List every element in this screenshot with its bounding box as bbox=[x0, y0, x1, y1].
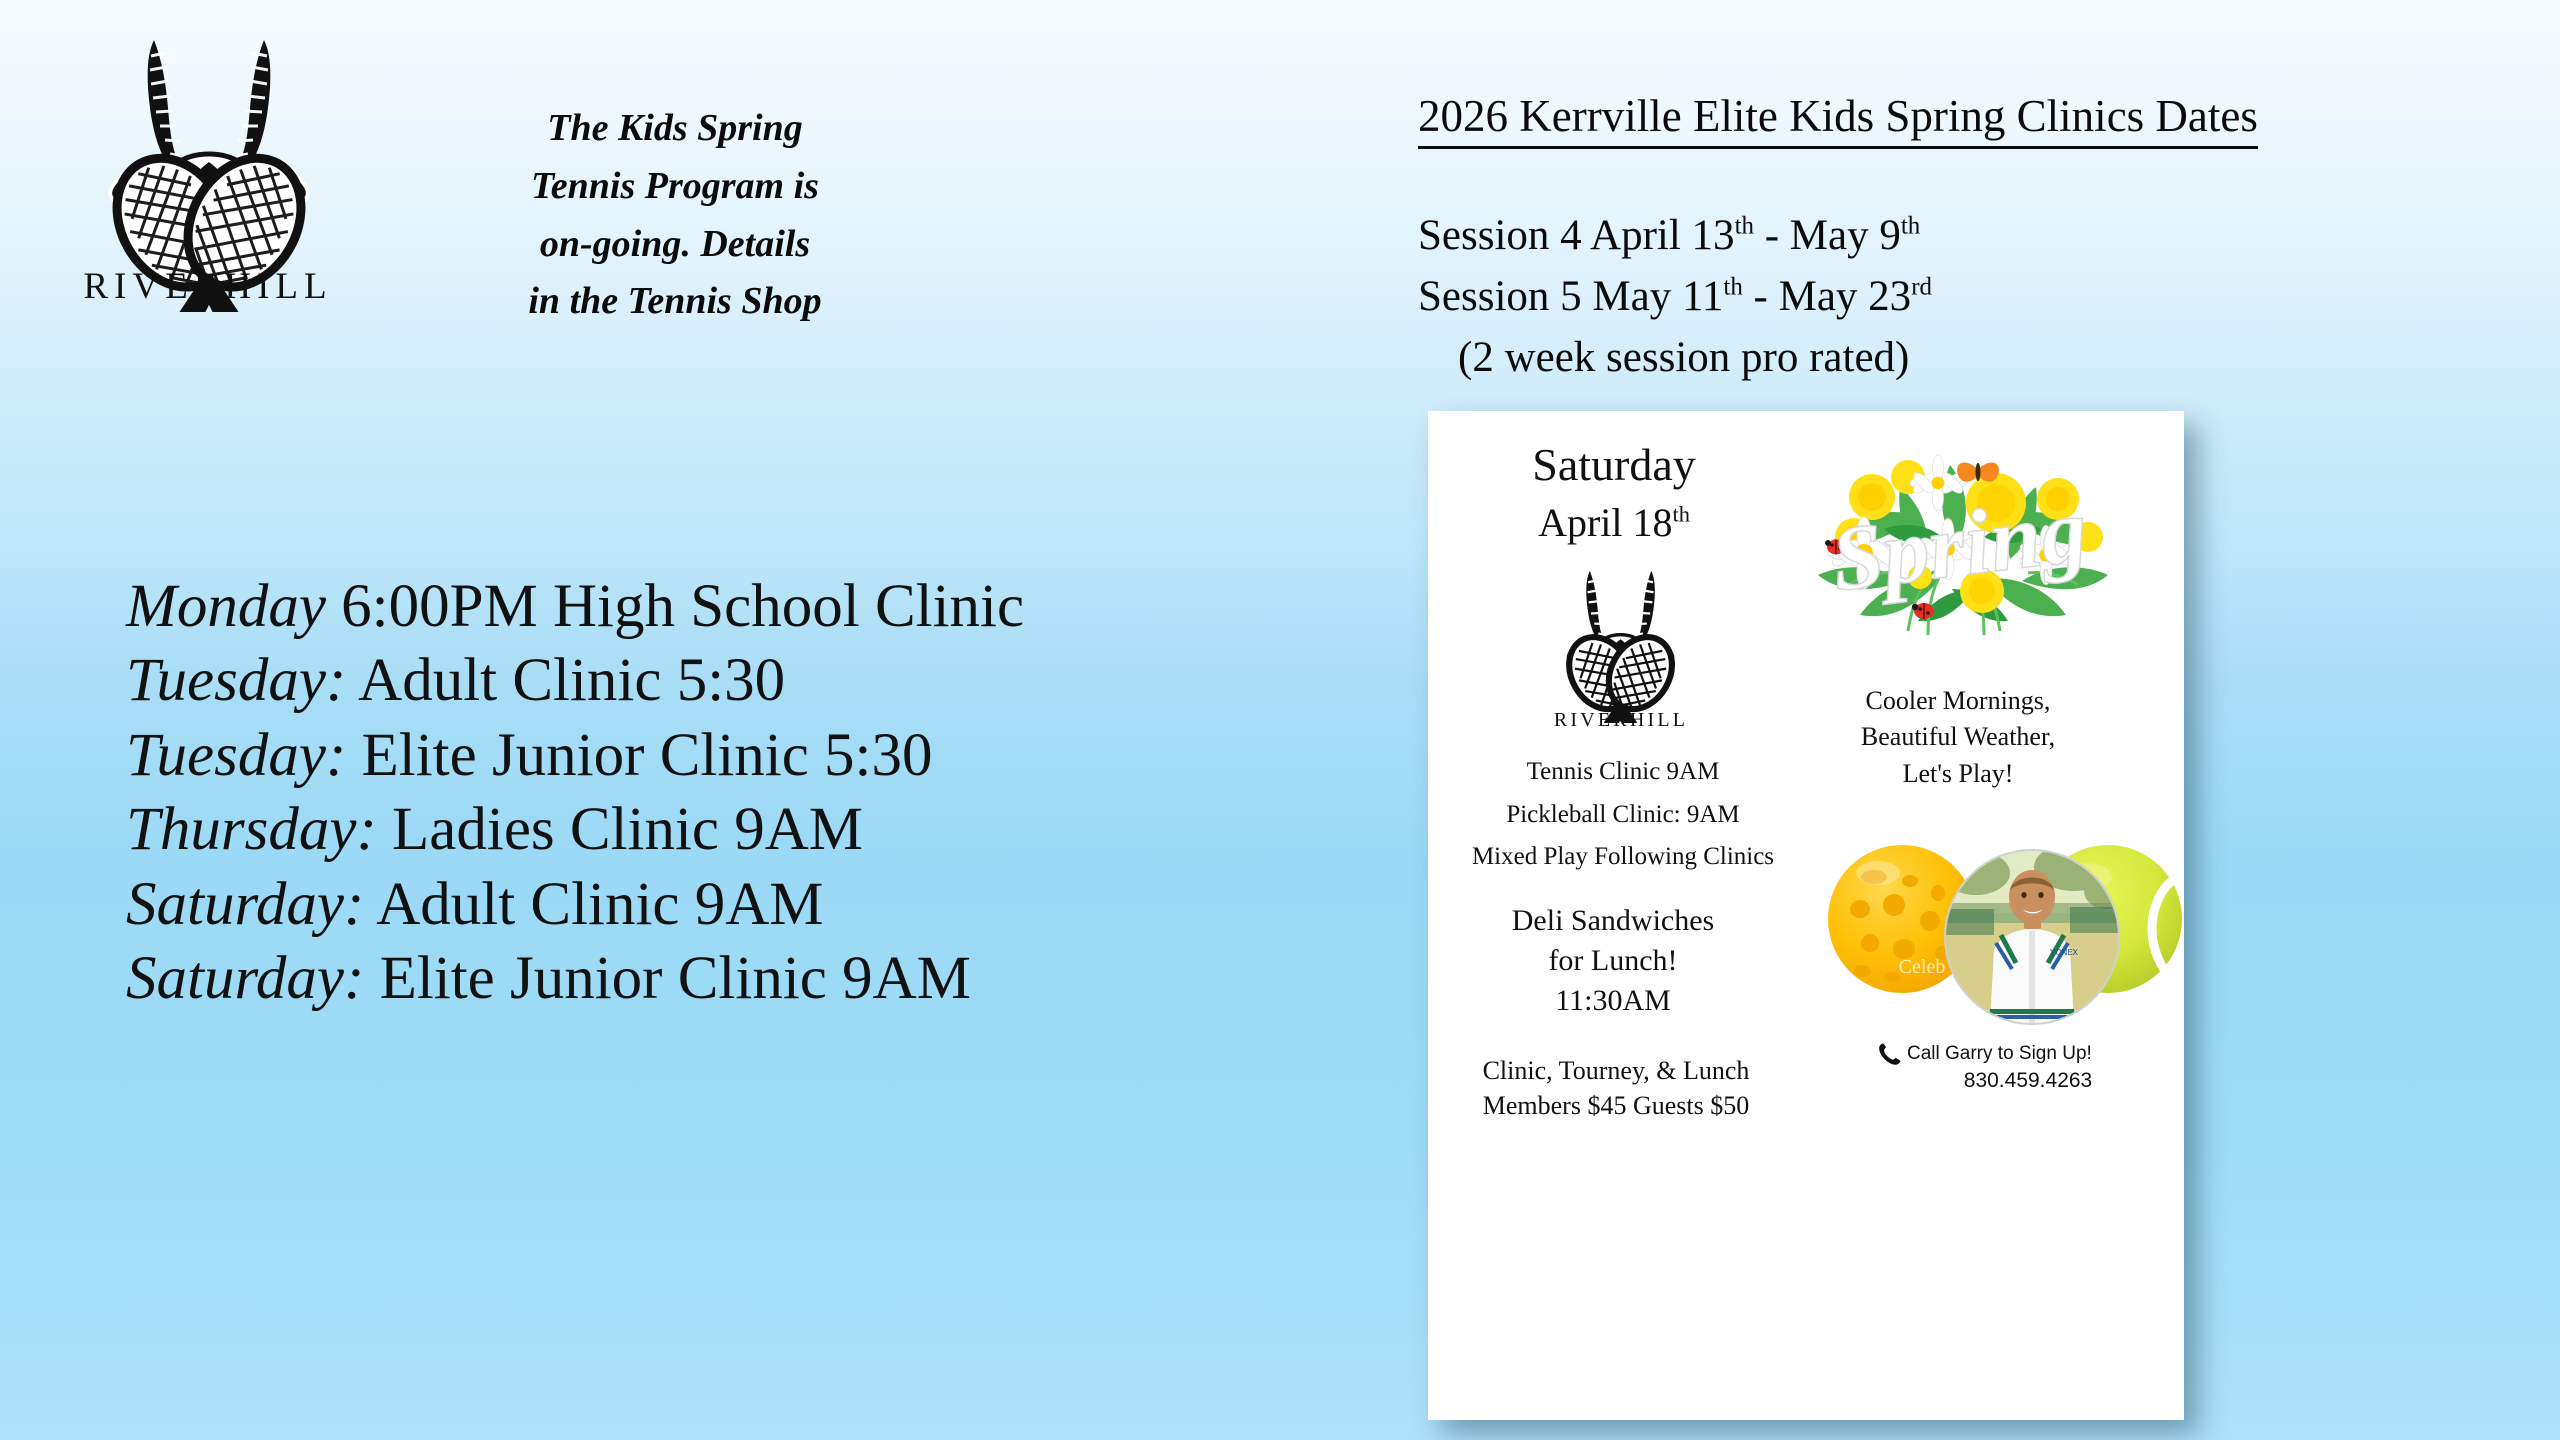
kids-heading-line: Tennis Program is bbox=[440, 158, 910, 216]
schedule-detail: Adult Clinic 5:30 bbox=[346, 647, 785, 714]
weekly-schedule-list: Monday 6:00PM High School Clinic Tuesday… bbox=[126, 570, 1376, 1016]
flyer-weather-text: Cooler Mornings, Beautiful Weather, Let'… bbox=[1808, 683, 2108, 792]
flyer-clinic-line: Mixed Play Following Clinics bbox=[1438, 836, 1808, 879]
coach-photo-avatar: YONEX bbox=[1944, 849, 2120, 1025]
flyer-date: April 18th bbox=[1464, 499, 1764, 546]
session-5-sup1: th bbox=[1723, 274, 1742, 301]
kids-heading-line: in the Tennis Shop bbox=[440, 273, 910, 331]
session-4-sup1: th bbox=[1735, 213, 1754, 240]
flyer-price-line: Clinic, Tourney, & Lunch bbox=[1436, 1053, 1796, 1088]
flyer-weather-line: Let's Play! bbox=[1808, 756, 2108, 792]
flyer-riverhill-logo-icon bbox=[1536, 561, 1704, 723]
flyer-date-text: April 18 bbox=[1538, 500, 1672, 545]
flyer-date-sup: th bbox=[1673, 502, 1690, 527]
session-5-row: Session 5 May 11th - May 23rd bbox=[1418, 266, 1932, 327]
svg-text:YONEX: YONEX bbox=[2050, 948, 2079, 957]
contact-phone-number[interactable]: 830.459.4263 bbox=[1876, 1067, 2156, 1093]
session-4-sup2: th bbox=[1901, 213, 1920, 240]
contact-call-label: Call Garry to Sign Up! bbox=[1907, 1043, 2092, 1065]
schedule-row: Monday 6:00PM High School Clinic bbox=[126, 570, 1376, 644]
schedule-row: Saturday: Adult Clinic 9AM bbox=[126, 868, 1376, 942]
session-note: (2 week session pro rated) bbox=[1418, 327, 1932, 388]
session-5-mid: - May 23 bbox=[1743, 273, 1911, 320]
schedule-day: Monday bbox=[126, 573, 326, 640]
schedule-row: Tuesday: Elite Junior Clinic 5:30 bbox=[126, 719, 1376, 793]
phone-icon bbox=[1876, 1041, 1902, 1067]
clinic-sessions-block: Session 4 April 13th - May 9th Session 5… bbox=[1418, 205, 1932, 388]
flyer-lunch-line: Deli Sandwiches bbox=[1438, 901, 1788, 941]
flyer-clinic-line: Pickleball Clinic: 9AM bbox=[1438, 794, 1808, 837]
schedule-detail: 6:00PM High School Clinic bbox=[326, 573, 1024, 640]
schedule-detail: Elite Junior Clinic 5:30 bbox=[346, 722, 932, 789]
event-flyer-card[interactable]: Saturday April 18th bbox=[1428, 411, 2184, 1420]
schedule-day: Saturday: bbox=[126, 945, 364, 1012]
flyer-pricing: Clinic, Tourney, & Lunch Members $45 Gue… bbox=[1436, 1053, 1796, 1124]
schedule-detail: Ladies Clinic 9AM bbox=[377, 796, 863, 863]
kids-heading-line: The Kids Spring bbox=[440, 100, 910, 158]
flyer-lunch-text: Deli Sandwiches for Lunch! 11:30AM bbox=[1438, 901, 1788, 1022]
schedule-detail: Adult Clinic 9AM bbox=[364, 871, 823, 938]
flyer-day: Saturday bbox=[1464, 438, 1764, 491]
pickleball-watermark: Celeb bbox=[1899, 956, 1946, 978]
session-5-sup2: rd bbox=[1911, 274, 1932, 301]
session-5-label: Session 5 May 11 bbox=[1418, 273, 1723, 320]
poster-canvas: RIVERHILL The Kids Spring Tennis Program… bbox=[0, 0, 2560, 1440]
flyer-lunch-line: for Lunch! bbox=[1438, 941, 1788, 981]
schedule-day: Thursday: bbox=[126, 796, 377, 863]
clinic-dates-title: 2026 Kerrville Elite Kids Spring Clinics… bbox=[1418, 90, 2258, 149]
schedule-detail: Elite Junior Clinic 9AM bbox=[364, 945, 971, 1012]
schedule-day: Tuesday: bbox=[126, 722, 346, 789]
session-4-row: Session 4 April 13th - May 9th bbox=[1418, 205, 1932, 266]
schedule-row: Thursday: Ladies Clinic 9AM bbox=[126, 793, 1376, 867]
schedule-row: Tuesday: Adult Clinic 5:30 bbox=[126, 644, 1376, 718]
riverhill-wordmark: RIVERHILL bbox=[58, 265, 358, 308]
schedule-day: Tuesday: bbox=[126, 647, 346, 714]
contact-call-row[interactable]: Call Garry to Sign Up! bbox=[1876, 1041, 2156, 1067]
flyer-weather-line: Beautiful Weather, bbox=[1808, 719, 2108, 755]
schedule-row: Saturday: Elite Junior Clinic 9AM bbox=[126, 942, 1376, 1016]
flyer-riverhill-wordmark: RIVERHILL bbox=[1516, 709, 1726, 732]
kids-program-heading: The Kids Spring Tennis Program is on-goi… bbox=[440, 100, 910, 331]
flyer-lunch-line: 11:30AM bbox=[1438, 981, 1788, 1021]
flyer-weather-line: Cooler Mornings, bbox=[1808, 683, 2108, 719]
kids-heading-line: on-going. Details bbox=[440, 216, 910, 274]
session-4-label: Session 4 April 13 bbox=[1418, 212, 1735, 259]
schedule-day: Saturday: bbox=[126, 871, 364, 938]
flyer-contact-block[interactable]: Call Garry to Sign Up! 830.459.4263 bbox=[1876, 1041, 2156, 1093]
flyer-price-line: Members $45 Guests $50 bbox=[1436, 1088, 1796, 1123]
flyer-clinic-times: Tennis Clinic 9AM Pickleball Clinic: 9AM… bbox=[1438, 751, 1808, 879]
flyer-clinic-line: Tennis Clinic 9AM bbox=[1438, 751, 1808, 794]
spring-flowers-icon: Spring bbox=[1800, 425, 2126, 671]
session-4-mid: - May 9 bbox=[1754, 212, 1901, 259]
